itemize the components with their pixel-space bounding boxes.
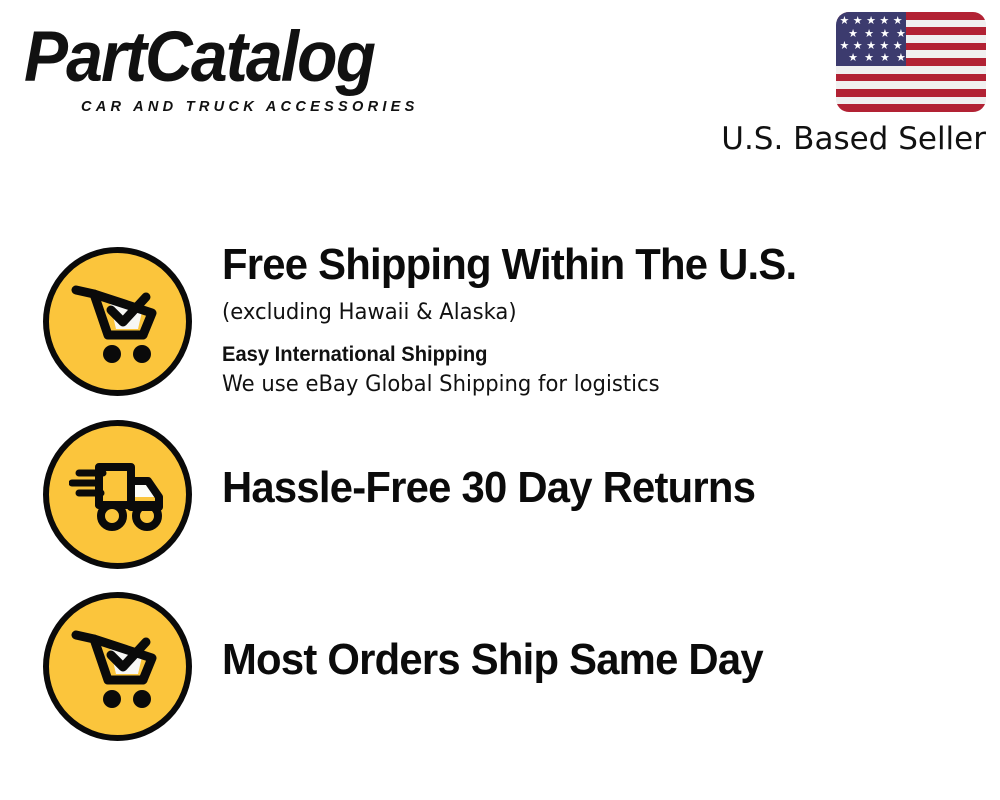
feature-subtitle-bold: Easy International Shipping — [222, 340, 952, 370]
shopping-cart-check-icon — [43, 247, 192, 396]
feature-title: Hassle-Free 30 Day Returns — [222, 463, 944, 513]
feature-title: Most Orders Ship Same Day — [222, 635, 944, 685]
delivery-truck-icon — [43, 420, 192, 569]
shopping-cart-check-icon — [43, 592, 192, 741]
feature-subtitle-secondary: We use eBay Global Shipping for logistic… — [222, 370, 952, 400]
feature-subtitle: (excluding Hawaii & Alaska) — [222, 298, 952, 328]
feature-text-block: Free Shipping Within The U.S. (excluding… — [222, 240, 982, 400]
feature-title: Free Shipping Within The U.S. — [222, 240, 944, 290]
feature-text-block: Most Orders Ship Same Day — [222, 635, 982, 685]
feature-list: Free Shipping Within The U.S. (excluding… — [0, 0, 1000, 800]
feature-text-block: Hassle-Free 30 Day Returns — [222, 463, 982, 513]
